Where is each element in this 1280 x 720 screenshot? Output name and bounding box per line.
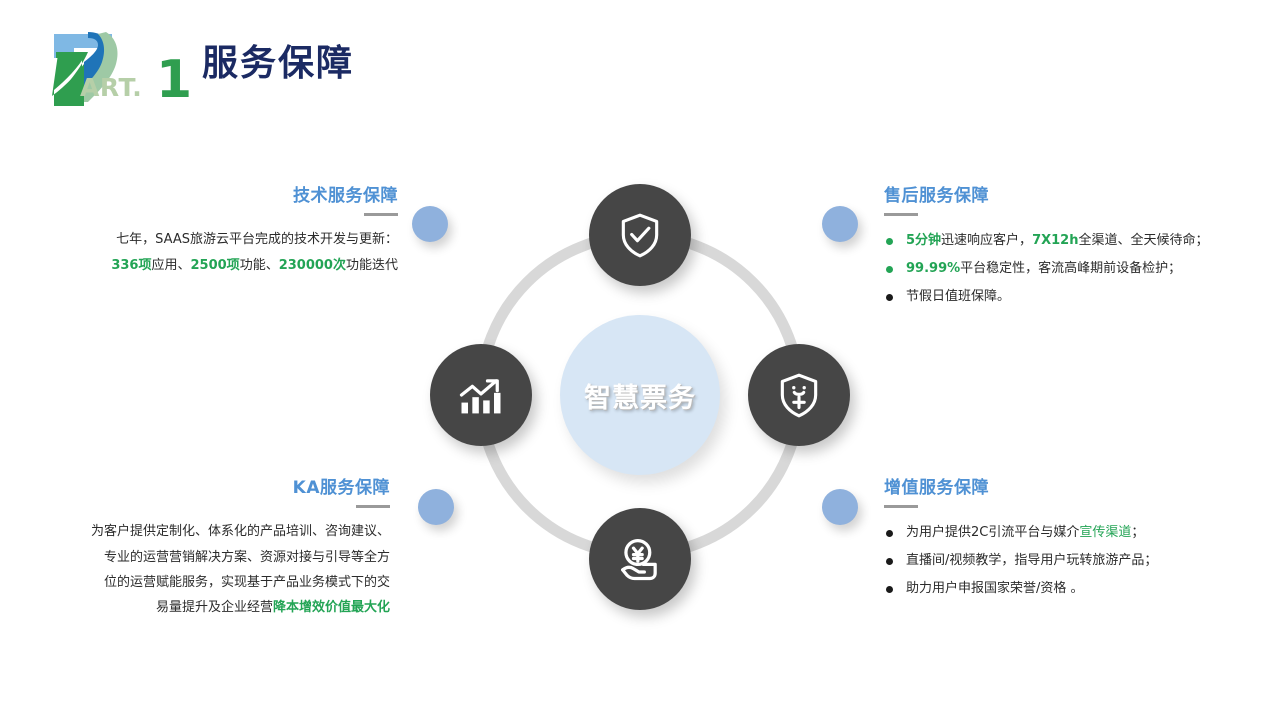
panel-tech-heading: 技术服务保障 (68, 186, 398, 206)
node-shield-check[interactable] (589, 184, 691, 286)
decorative-dot-top-right (822, 206, 858, 242)
list-item: 5分钟迅速响应客户，7X12h全渠道、全天候待命； (884, 227, 1214, 255)
node-revenue-hand[interactable] (589, 508, 691, 610)
value-added-text-3: 助力用户申报国家荣誉/资格 。 (906, 581, 1084, 596)
shield-check-icon (615, 210, 665, 260)
decorative-dot-top-left (412, 206, 448, 242)
panel-after-sales-service: 售后服务保障 5分钟迅速响应客户，7X12h全渠道、全天候待命； 99.99%平… (884, 186, 1214, 311)
after-sales-hl-2: 7X12h (1032, 233, 1078, 248)
panel-ka-line-3: 位的运营赋能服务，实现基于产品业务模式下的交 (60, 570, 390, 595)
tech-metric-2-label: 功能、 (240, 258, 279, 273)
panel-ka-service: KA服务保障 为客户提供定制化、体系化的产品培训、咨询建议、 专业的运营营销解决… (60, 478, 390, 621)
center-hub: 智慧票务 (560, 315, 720, 475)
tech-metric-1: 336项 (111, 258, 151, 273)
part-number-logo: ART. 1 (44, 18, 194, 110)
panel-ka-line-4: 易量提升及企业经营降本增效价值最大化 (60, 595, 390, 620)
panel-tech-line-1: 七年，SAAS旅游云平台完成的技术开发与更新： (68, 227, 398, 252)
list-item: 为用户提供2C引流平台与媒介宣传渠道； (884, 519, 1214, 547)
tech-metric-1-label: 应用、 (151, 258, 190, 273)
panel-ka-heading: KA服务保障 (60, 478, 390, 498)
page-title: 服务保障 (202, 46, 354, 82)
tech-metric-3: 230000次 (279, 258, 346, 273)
panel-ka-rule (356, 505, 390, 508)
panel-after-sales-rule (884, 213, 918, 216)
decorative-dot-bottom-right (822, 489, 858, 525)
value-added-post-1: ； (1131, 525, 1144, 540)
after-sales-text-1b: 全渠道、全天候待命； (1078, 233, 1208, 248)
bar-chart-growth-icon (455, 369, 507, 421)
shield-smile-plus-icon (774, 370, 824, 420)
panel-tech-line-2: 336项应用、2500项功能、230000次功能迭代 (68, 253, 398, 278)
list-item: 99.99%平台稳定性，客流高峰期前设备检护； (884, 255, 1214, 283)
panel-after-sales-heading: 售后服务保障 (884, 186, 1214, 206)
panel-value-added-service: 增值服务保障 为用户提供2C引流平台与媒介宣传渠道； 直播间/视频教学，指导用户… (884, 478, 1214, 603)
panel-tech-service: 技术服务保障 七年，SAAS旅游云平台完成的技术开发与更新： 336项应用、25… (68, 186, 398, 278)
hand-yuan-coin-icon (614, 533, 666, 585)
after-sales-hl-3: 99.99% (906, 261, 960, 276)
tech-metric-3-label: 功能迭代 (346, 258, 398, 273)
ka-line-4-highlight: 降本增效价值最大化 (273, 600, 390, 615)
after-sales-text-3: 节假日值班保障。 (906, 289, 1010, 304)
panel-ka-line-2: 专业的运营营销解决方案、资源对接与引导等全方 (60, 545, 390, 570)
service-hub-diagram: 智慧票务 (430, 170, 850, 630)
page-header: ART. 1 服务保障 (44, 18, 354, 110)
node-shield-care[interactable] (748, 344, 850, 446)
tech-metric-2: 2500项 (191, 258, 240, 273)
center-hub-label: 智慧票务 (584, 376, 696, 415)
value-added-text-1: 为用户提供2C引流平台与媒介 (906, 525, 1079, 540)
panel-ka-line-1: 为客户提供定制化、体系化的产品培训、咨询建议、 (60, 519, 390, 544)
node-growth-chart[interactable] (430, 344, 532, 446)
after-sales-hl-1: 5分钟 (906, 233, 941, 248)
list-item: 助力用户申报国家荣誉/资格 。 (884, 575, 1214, 603)
ka-line-4-prefix: 易量提升及企业经营 (156, 600, 273, 615)
panel-tech-rule (364, 213, 398, 216)
list-item: 直播间/视频教学，指导用户玩转旅游产品； (884, 547, 1214, 575)
logo-part-text: ART. (80, 73, 142, 102)
after-sales-text-1a: 迅速响应客户， (941, 233, 1032, 248)
decorative-dot-bottom-left (418, 489, 454, 525)
list-item: 节假日值班保障。 (884, 283, 1214, 311)
value-added-list: 为用户提供2C引流平台与媒介宣传渠道； 直播间/视频教学，指导用户玩转旅游产品；… (884, 519, 1214, 603)
logo-number: 1 (156, 50, 192, 110)
panel-value-added-heading: 增值服务保障 (884, 478, 1214, 498)
value-added-text-2: 直播间/视频教学，指导用户玩转旅游产品； (906, 553, 1157, 568)
after-sales-list: 5分钟迅速响应客户，7X12h全渠道、全天候待命； 99.99%平台稳定性，客流… (884, 227, 1214, 311)
value-added-hl-1: 宣传渠道 (1079, 525, 1131, 540)
after-sales-text-2: 平台稳定性，客流高峰期前设备检护； (960, 261, 1181, 276)
panel-value-added-rule (884, 505, 918, 508)
